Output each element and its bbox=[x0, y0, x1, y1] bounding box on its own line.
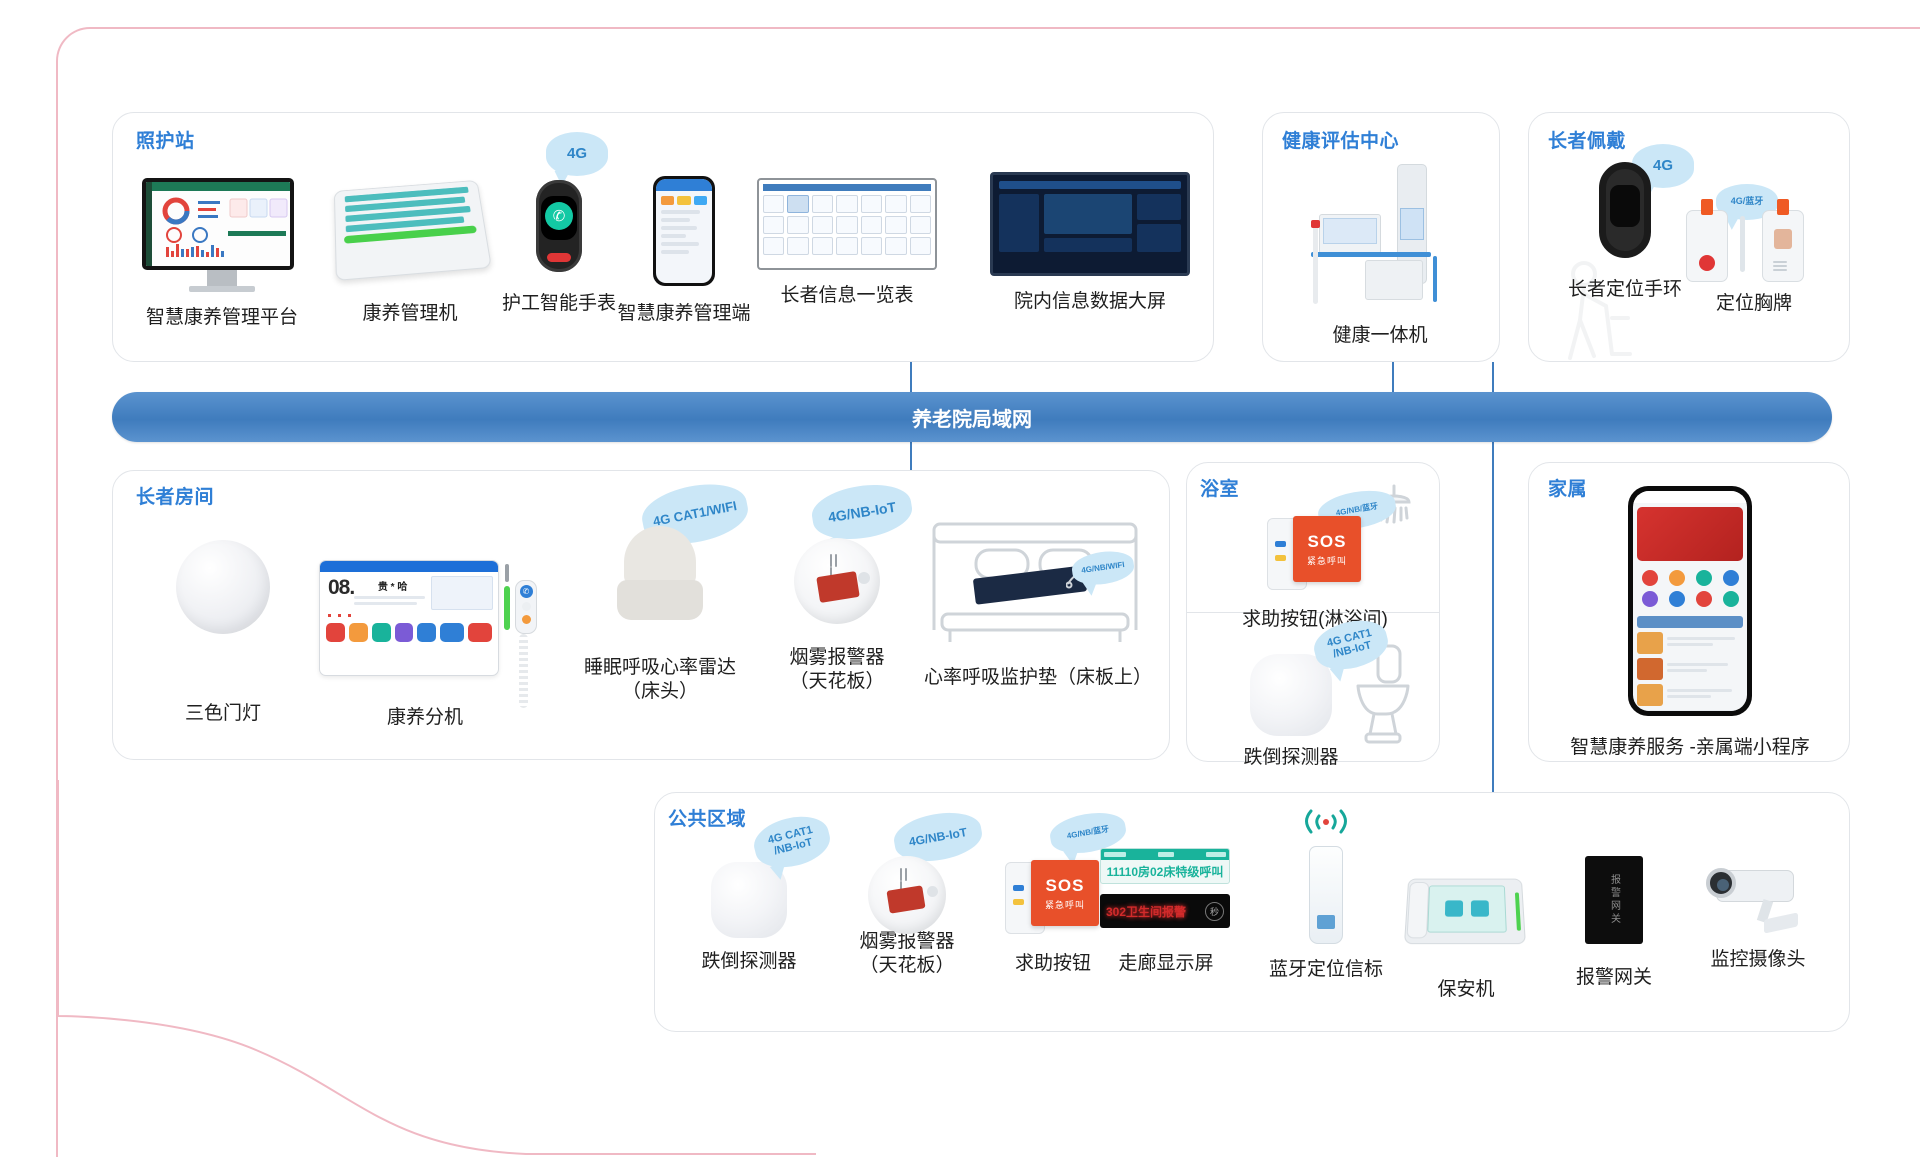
device-facility-data-screen[interactable]: 院内信息数据大屏 bbox=[984, 172, 1196, 314]
device-label: 烟雾报警器 （天花板） bbox=[824, 930, 990, 977]
smoke-alarm-icon bbox=[787, 528, 887, 628]
device-fall-detector-bathroom[interactable]: 4G CAT1 /NB-IoT 跌倒探测器 bbox=[1196, 626, 1386, 770]
signal-wave-icon bbox=[1299, 806, 1353, 840]
device-fall-detector-public[interactable]: 4G CAT1 /NB-IoT 跌倒探测器 bbox=[668, 826, 830, 974]
health-machine-icon bbox=[1300, 160, 1460, 310]
panel-title-health-center: 健康评估中心 bbox=[1282, 126, 1399, 153]
device-smart-care-mobile-client[interactable]: 智慧康养管理端 bbox=[614, 176, 754, 326]
device-label: 睡眠呼吸心率雷达 （床头） bbox=[570, 656, 750, 703]
device-caregiver-smartwatch[interactable]: 4G ✆ 护工智能手表 bbox=[494, 170, 624, 316]
device-sleep-breath-heartrate-radar[interactable]: 4G CAT1/WIFI 睡眠呼吸心率雷达 （床头） bbox=[570, 520, 750, 703]
device-smoke-alarm-room[interactable]: 4G/NB-IoT 烟雾报警器 （天花板） bbox=[752, 528, 922, 693]
locator-badge-icon bbox=[1674, 190, 1834, 286]
panel-title-elder-wearables: 长者佩戴 bbox=[1548, 126, 1626, 153]
sos-subtext: 紧急呼叫 bbox=[1307, 554, 1347, 567]
device-heartrate-breath-monitor-mat[interactable]: 4G/NB/WIFI 心率呼吸监护垫（床板上） bbox=[908, 510, 1168, 690]
cctv-camera-icon bbox=[1698, 856, 1818, 936]
bed-icon: 4G/NB/WIFI bbox=[920, 510, 1156, 656]
connector-care-station bbox=[910, 362, 912, 394]
device-label: 烟雾报警器 （天花板） bbox=[752, 646, 922, 693]
connector-health-center bbox=[1392, 362, 1394, 394]
connector-elder-room bbox=[910, 442, 912, 470]
device-sos-button-shower[interactable]: 4G/NB/蓝牙 SOS紧急呼叫 求助按钮(淋浴间) bbox=[1196, 500, 1434, 632]
device-locator-badge[interactable]: 4G/蓝牙 定位胸牌 bbox=[1664, 190, 1844, 316]
dashboard-thumbnail bbox=[152, 191, 290, 261]
panel-title-elder-room: 长者房间 bbox=[136, 482, 214, 509]
device-label: 智慧康养管理平台 bbox=[126, 306, 318, 330]
device-label: 康养分机 bbox=[310, 706, 540, 730]
device-label: 监控摄像头 bbox=[1680, 948, 1836, 972]
device-elder-info-board[interactable]: 长者信息一览表 bbox=[752, 178, 942, 308]
sos-pendant-icon bbox=[1686, 210, 1728, 282]
smartwatch-icon: ✆ bbox=[529, 170, 589, 280]
info-board-icon bbox=[757, 178, 937, 270]
monitor-icon bbox=[142, 178, 302, 292]
fall-detector-icon bbox=[1250, 654, 1332, 736]
device-label: 心率呼吸监护垫（床板上） bbox=[908, 666, 1168, 690]
device-label: 走廊显示屏 bbox=[1088, 952, 1244, 976]
room-panel-number: 08. bbox=[320, 572, 354, 610]
sos-button-icon: SOS紧急呼叫 bbox=[1005, 860, 1101, 938]
photo-badge-icon bbox=[1762, 210, 1804, 282]
device-health-allinone-machine[interactable]: 健康一体机 bbox=[1280, 160, 1480, 348]
room-panel-name: 贵 * 哈 bbox=[354, 578, 431, 593]
device-smart-care-platform[interactable]: 智慧康养管理平台 bbox=[126, 178, 318, 330]
data-screen-icon bbox=[990, 172, 1190, 276]
sos-subtext: 紧急呼叫 bbox=[1045, 898, 1085, 911]
smoke-alarm-icon bbox=[859, 822, 955, 918]
corridor-timer-icon: 秒 bbox=[1205, 902, 1224, 921]
alarm-gateway-icon: 报警网关 bbox=[1585, 856, 1643, 944]
door-lamp-icon bbox=[176, 540, 270, 634]
call-icon: ✆ bbox=[545, 202, 573, 230]
sos-text: SOS bbox=[1046, 876, 1085, 896]
corridor-green-screen: 11110房02床特级呼叫 bbox=[1100, 848, 1230, 884]
device-label: 康养管理机 bbox=[320, 302, 500, 326]
device-label: 院内信息数据大屏 bbox=[984, 290, 1196, 314]
call-handset-icon: ✆ bbox=[515, 580, 537, 634]
locator-band-icon bbox=[1590, 162, 1660, 266]
corridor-display-icon: 11110房02床特级呼叫 302卫生间报警 秒 bbox=[1100, 848, 1232, 928]
management-machine-icon bbox=[335, 180, 485, 290]
gateway-label: 报警网关 bbox=[1607, 874, 1622, 926]
sos-text: SOS bbox=[1308, 532, 1347, 552]
device-care-management-machine[interactable]: 康养管理机 bbox=[320, 180, 500, 326]
device-label: 报警网关 bbox=[1536, 966, 1692, 990]
network-bar: 养老院局域网 bbox=[112, 392, 1832, 442]
device-cctv-camera[interactable]: 监控摄像头 bbox=[1680, 856, 1836, 972]
smartphone-icon bbox=[651, 176, 717, 290]
corridor-black-text: 302卫生间报警 bbox=[1106, 903, 1186, 920]
beacon-icon bbox=[1309, 846, 1343, 944]
sleep-radar-icon bbox=[610, 520, 710, 630]
network-bar-label: 养老院局域网 bbox=[912, 403, 1032, 432]
device-family-miniprogram[interactable]: 智慧康养服务 -亲属端小程序 bbox=[1540, 486, 1840, 760]
device-label: 长者信息一览表 bbox=[752, 284, 942, 308]
device-label: 智慧康养管理端 bbox=[614, 302, 754, 326]
device-label: 蓝牙定位信标 bbox=[1248, 958, 1404, 982]
device-tricolor-door-lamp[interactable]: 三色门灯 bbox=[128, 540, 318, 726]
device-label: 健康一体机 bbox=[1280, 324, 1480, 348]
device-alarm-gateway[interactable]: 报警网关 报警网关 bbox=[1536, 856, 1692, 990]
device-ble-beacon[interactable]: 蓝牙定位信标 bbox=[1248, 806, 1404, 982]
device-label: 定位胸牌 bbox=[1664, 292, 1844, 316]
corridor-black-screen: 302卫生间报警 秒 bbox=[1100, 894, 1230, 928]
device-room-extension-panel[interactable]: 08. 贵 * 哈 bbox=[310, 560, 540, 730]
device-smoke-alarm-public[interactable]: 4G/NB-IoT 烟雾报警器 （天花板） bbox=[824, 822, 990, 977]
corridor-green-text: 11110房02床特级呼叫 bbox=[1101, 860, 1229, 884]
panel-title-bathroom: 浴室 bbox=[1200, 474, 1239, 501]
device-label: 智慧康养服务 -亲属端小程序 bbox=[1540, 736, 1840, 760]
device-label: 护工智能手表 bbox=[494, 292, 624, 316]
family-app-icon bbox=[1625, 486, 1755, 722]
device-label: 三色门灯 bbox=[128, 702, 318, 726]
device-security-machine[interactable]: 保安机 bbox=[1388, 860, 1544, 1002]
sos-button-icon: SOS紧急呼叫 bbox=[1267, 516, 1363, 594]
security-machine-icon bbox=[1401, 860, 1531, 956]
room-panel-icon: 08. 贵 * 哈 bbox=[319, 560, 531, 680]
panel-title-care-station: 照护站 bbox=[136, 126, 195, 153]
device-label: 保安机 bbox=[1388, 978, 1544, 1002]
device-corridor-display[interactable]: 11110房02床特级呼叫 302卫生间报警 秒 走廊显示屏 bbox=[1088, 848, 1244, 976]
device-label: 跌倒探测器 bbox=[668, 950, 830, 974]
device-label: 跌倒探测器 bbox=[1196, 746, 1386, 770]
